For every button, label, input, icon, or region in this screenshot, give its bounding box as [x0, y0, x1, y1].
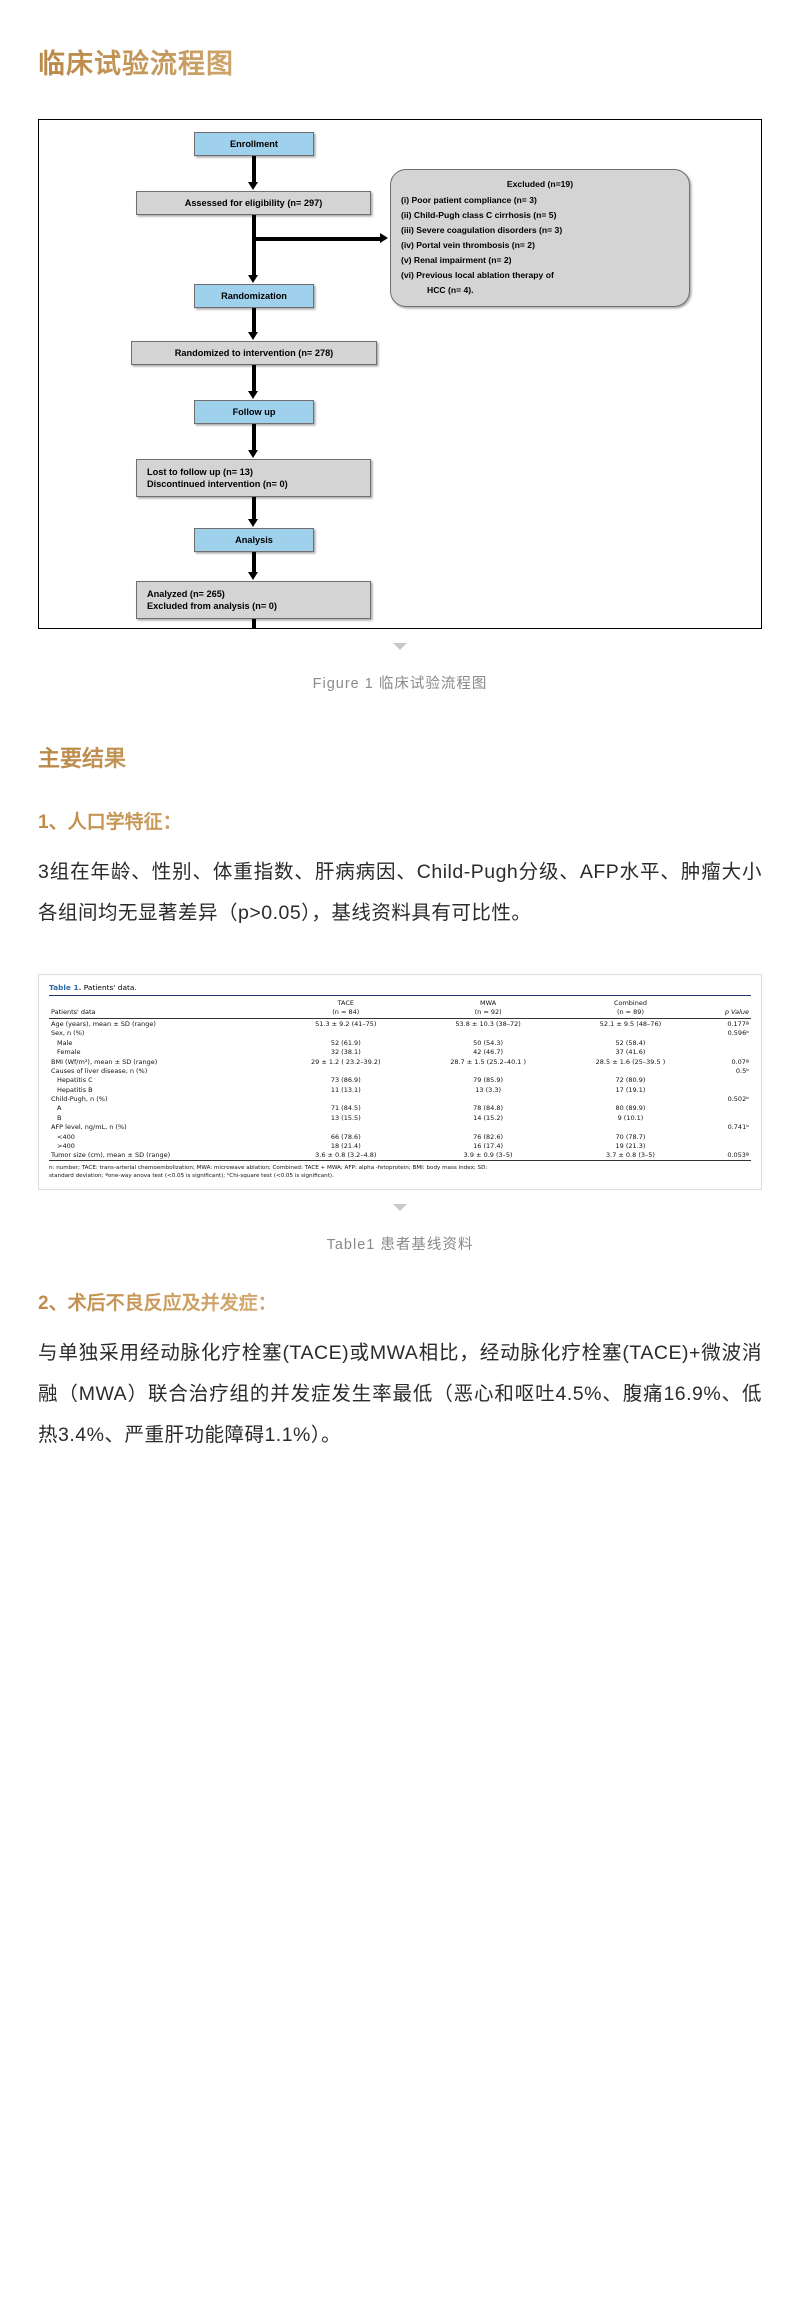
table-head: TACE MWA Combined Patients' data (n = 84…	[49, 996, 751, 1019]
row-value-1	[278, 1123, 415, 1132]
row-value-3	[562, 1029, 699, 1038]
excluded-item-6-cont: HCC (n= 4).	[401, 283, 679, 298]
row-p-value	[699, 1141, 751, 1150]
excluded-item-5: (v) Renal impairment (n= 2)	[401, 253, 679, 268]
table-row: Age (years), mean ± SD (range)51.3 ± 9.2…	[49, 1019, 751, 1029]
row-value-3: 70 (78.7)	[562, 1132, 699, 1141]
row-p-value: 0.741ᵇ	[699, 1123, 751, 1132]
row-label: Tumor size (cm), mean ± SD (range)	[49, 1151, 278, 1161]
head-group-combined: Combined	[562, 996, 699, 1008]
row-value-3: 52.1 ± 9.5 (48–76)	[562, 1019, 699, 1029]
row-label: A	[49, 1104, 278, 1113]
row-label: BMI (Wf/m²), mean ± SD (range)	[49, 1057, 278, 1066]
table-row: Hepatitis C73 (86.9)79 (85.9)72 (80.9)	[49, 1076, 751, 1085]
head-group-mwa: MWA	[414, 996, 562, 1008]
arrowhead-6	[248, 519, 258, 527]
row-value-2	[414, 1094, 562, 1103]
row-value-1	[278, 1029, 415, 1038]
row-label: AFP level, ng/mL, n (%)	[49, 1123, 278, 1132]
row-p-value: 0.053ª	[699, 1151, 751, 1161]
row-label: Causes of liver disease, n (%)	[49, 1066, 278, 1075]
node-analysis: Analysis	[194, 528, 314, 552]
row-label: <400	[49, 1132, 278, 1141]
connector-lost-analysis	[252, 497, 256, 521]
row-p-value: 0.502ᵇ	[699, 1094, 751, 1103]
row-p-value	[699, 1048, 751, 1057]
table-1-label: Table 1.	[49, 983, 81, 992]
row-value-2: 53.8 ± 10.3 (38–72)	[414, 1019, 562, 1029]
footnote-line-2: standard deviation; ªone-way anova test …	[49, 1172, 751, 1180]
row-value-3	[562, 1094, 699, 1103]
connector-randomized-followup	[252, 365, 256, 393]
table-row: A71 (84.5)78 (84.8)80 (89.9)	[49, 1104, 751, 1113]
connector-to-excluded	[252, 237, 382, 241]
node-follow-up: Follow up	[194, 400, 314, 424]
row-p-value: 0.07ª	[699, 1057, 751, 1066]
node-enrollment: Enrollment	[194, 132, 314, 156]
table-row: <40066 (78.6)76 (82.6)70 (78.7)	[49, 1132, 751, 1141]
row-value-1: 18 (21.4)	[278, 1141, 415, 1150]
row-p-value	[699, 1104, 751, 1113]
article-page: 临床试验流程图 Enrollment Assessed for eligibil…	[0, 42, 800, 1496]
row-value-2	[414, 1066, 562, 1075]
table-1-block: Table 1. Patients' data. TACE MWA Combin…	[38, 974, 762, 1254]
row-value-1: 52 (61.9)	[278, 1038, 415, 1047]
node-randomized-to-intervention: Randomized to intervention (n= 278)	[131, 341, 377, 365]
row-label: >400	[49, 1141, 278, 1150]
row-value-3	[562, 1123, 699, 1132]
row-value-2: 16 (17.4)	[414, 1141, 562, 1150]
arrowhead-7	[248, 572, 258, 580]
table-row: Causes of liver disease, n (%)0.5ᵇ	[49, 1066, 751, 1075]
row-value-2: 50 (54.3)	[414, 1038, 562, 1047]
row-value-1: 11 (13.1)	[278, 1085, 415, 1094]
excluded-item-3: (iii) Severe coagulation disorders (n= 3…	[401, 223, 679, 238]
row-value-1: 29 ± 1.2 ( 23.2–39.2)	[278, 1057, 415, 1066]
table-row: Hepatitis B11 (13.1)13 (3.3)17 (19.1)	[49, 1085, 751, 1094]
table-row: BMI (Wf/m²), mean ± SD (range)29 ± 1.2 (…	[49, 1057, 751, 1066]
row-value-2: 76 (82.6)	[414, 1132, 562, 1141]
figure-1-block: Enrollment Assessed for eligibility (n= …	[38, 119, 762, 693]
page-title: 临床试验流程图	[38, 42, 800, 81]
connector-analyzed-split	[252, 619, 256, 629]
excluded-item-1: (i) Poor patient compliance (n= 3)	[401, 193, 679, 208]
section-heading-results: 主要结果	[38, 741, 800, 773]
head-n-combined: (n = 89)	[562, 1008, 699, 1019]
node-analyzed: Analyzed (n= 265) Excluded from analysis…	[136, 581, 371, 619]
head-n-tace: (n = 84)	[278, 1008, 415, 1019]
lost-line-2: Discontinued intervention (n= 0)	[147, 478, 288, 490]
table-head-n-row: Patients' data (n = 84) (n = 92) (n = 89…	[49, 1008, 751, 1019]
excluded-item-4: (iv) Portal vein thrombosis (n= 2)	[401, 238, 679, 253]
row-value-3: 52 (58.4)	[562, 1038, 699, 1047]
excluded-item-6: (vi) Previous local ablation therapy of	[401, 268, 679, 283]
arrowhead-1	[248, 182, 258, 190]
excluded-item-2: (ii) Child-Pugh class C cirrhosis (n= 5)	[401, 208, 679, 223]
table-1-caption: Table1 患者基线资料	[38, 1233, 762, 1254]
row-label: Hepatitis C	[49, 1076, 278, 1085]
arrowhead-excluded	[380, 233, 388, 243]
table-row: B13 (15.5)14 (15.2)9 (10.1)	[49, 1113, 751, 1122]
head-spacer	[49, 996, 278, 1008]
head-group-tace: TACE	[278, 996, 415, 1008]
row-value-3: 17 (19.1)	[562, 1085, 699, 1094]
row-p-value	[699, 1038, 751, 1047]
row-p-value: 0.177ª	[699, 1019, 751, 1029]
flowchart-canvas: Enrollment Assessed for eligibility (n= …	[38, 119, 762, 629]
subsection-heading-demographics: 1、人口学特征：	[38, 807, 800, 834]
footnote-line-1: n: number; TACE: trans-arterial chemoemb…	[49, 1164, 751, 1172]
node-excluded-reasons: Excluded (n=19) (i) Poor patient complia…	[390, 169, 690, 307]
paragraph-demographics: 3组在年龄、性别、体重指数、肝病病因、Child-Pugh分级、AFP水平、肿瘤…	[38, 852, 762, 934]
table-row: Tumor size (cm), mean ± SD (range)3.6 ± …	[49, 1151, 751, 1161]
row-value-3: 37 (41.6)	[562, 1048, 699, 1057]
arrowhead-3	[248, 332, 258, 340]
table-row: AFP level, ng/mL, n (%)0.741ᵇ	[49, 1123, 751, 1132]
row-value-2	[414, 1029, 562, 1038]
head-p-spacer	[699, 996, 751, 1008]
table-collapse-caret	[393, 1204, 407, 1211]
row-p-value	[699, 1085, 751, 1094]
table-row: Child-Pugh, n (%)0.502ᵇ	[49, 1094, 751, 1103]
row-p-value: 0.5ᵇ	[699, 1066, 751, 1075]
connector-randomization-randomized	[252, 308, 256, 334]
analyzed-line-1: Analyzed (n= 265)	[147, 588, 225, 600]
row-value-1: 32 (38.1)	[278, 1048, 415, 1057]
row-value-2: 28.7 ± 1.5 (25.2–40.1 )	[414, 1057, 562, 1066]
table-1-frame: Table 1. Patients' data. TACE MWA Combin…	[38, 974, 762, 1190]
table-1-footnote: n: number; TACE: trans-arterial chemoemb…	[49, 1161, 751, 1181]
row-value-1: 51.3 ± 9.2 (41–75)	[278, 1019, 415, 1029]
table-row: Male52 (61.9)50 (54.3)52 (58.4)	[49, 1038, 751, 1047]
node-assessed-eligibility: Assessed for eligibility (n= 297)	[136, 191, 371, 215]
table-body: Age (years), mean ± SD (range)51.3 ± 9.2…	[49, 1019, 751, 1161]
row-value-1: 66 (78.6)	[278, 1132, 415, 1141]
connector-followup-lost	[252, 424, 256, 452]
row-label: Male	[49, 1038, 278, 1047]
row-p-value	[699, 1132, 751, 1141]
row-value-1: 73 (86.9)	[278, 1076, 415, 1085]
arrowhead-5	[248, 450, 258, 458]
row-label: Sex, n (%)	[49, 1029, 278, 1038]
row-value-2: 13 (3.3)	[414, 1085, 562, 1094]
table-1-title: Patients' data.	[84, 983, 137, 992]
excluded-title: Excluded (n=19)	[401, 177, 679, 192]
connector-assessed-randomization	[252, 215, 256, 277]
row-p-value: 0.596ᵇ	[699, 1029, 751, 1038]
row-label: Female	[49, 1048, 278, 1057]
lost-line-1: Lost to follow up (n= 13)	[147, 466, 253, 478]
row-p-value	[699, 1076, 751, 1085]
row-value-1: 13 (15.5)	[278, 1113, 415, 1122]
row-value-1	[278, 1066, 415, 1075]
connector-analysis-analyzed	[252, 552, 256, 574]
table-row: Female32 (38.1)42 (46.7)37 (41.6)	[49, 1048, 751, 1057]
analyzed-line-2: Excluded from analysis (n= 0)	[147, 600, 277, 612]
row-p-value	[699, 1113, 751, 1122]
row-value-3: 72 (80.9)	[562, 1076, 699, 1085]
row-value-1	[278, 1094, 415, 1103]
paragraph-adverse-events: 与单独采用经动脉化疗栓塞(TACE)或MWA相比，经动脉化疗栓塞(TACE)+微…	[38, 1333, 762, 1456]
row-value-2	[414, 1123, 562, 1132]
row-value-2: 78 (84.8)	[414, 1104, 562, 1113]
row-value-2: 42 (46.7)	[414, 1048, 562, 1057]
figure-1-caption: Figure 1 临床试验流程图	[38, 672, 762, 693]
table-row: Sex, n (%)0.596ᵇ	[49, 1029, 751, 1038]
row-label: B	[49, 1113, 278, 1122]
row-value-3: 28.5 ± 1.6 (25–39.5 )	[562, 1057, 699, 1066]
row-value-1: 3.6 ± 0.8 (3.2–4.8)	[278, 1151, 415, 1161]
head-p-value: p Value	[699, 1008, 751, 1019]
head-n-mwa: (n = 92)	[414, 1008, 562, 1019]
node-lost-to-follow-up: Lost to follow up (n= 13) Discontinued i…	[136, 459, 371, 497]
subsection-heading-adverse-events: 2、术后不良反应及并发症：	[38, 1288, 800, 1315]
row-value-3	[562, 1066, 699, 1075]
row-value-2: 3.9 ± 0.9 (3–5)	[414, 1151, 562, 1161]
table-head-group-row: TACE MWA Combined	[49, 996, 751, 1008]
row-label: Age (years), mean ± SD (range)	[49, 1019, 278, 1029]
figure-collapse-caret	[393, 643, 407, 650]
row-label: Child-Pugh, n (%)	[49, 1094, 278, 1103]
row-value-3: 80 (89.9)	[562, 1104, 699, 1113]
head-col-label: Patients' data	[49, 1008, 278, 1019]
table-row: >40018 (21.4)16 (17.4)19 (21.3)	[49, 1141, 751, 1150]
arrowhead-4	[248, 391, 258, 399]
row-value-1: 71 (84.5)	[278, 1104, 415, 1113]
row-value-2: 14 (15.2)	[414, 1113, 562, 1122]
row-value-3: 3.7 ± 0.8 (3–5)	[562, 1151, 699, 1161]
row-value-3: 19 (21.3)	[562, 1141, 699, 1150]
table-1-title-line: Table 1. Patients' data.	[49, 983, 751, 996]
row-value-2: 79 (85.9)	[414, 1076, 562, 1085]
patients-data-table: TACE MWA Combined Patients' data (n = 84…	[49, 996, 751, 1161]
arrowhead-2	[248, 275, 258, 283]
node-randomization: Randomization	[194, 284, 314, 308]
row-label: Hepatitis B	[49, 1085, 278, 1094]
row-value-3: 9 (10.1)	[562, 1113, 699, 1122]
connector-enrollment-assessed	[252, 156, 256, 184]
